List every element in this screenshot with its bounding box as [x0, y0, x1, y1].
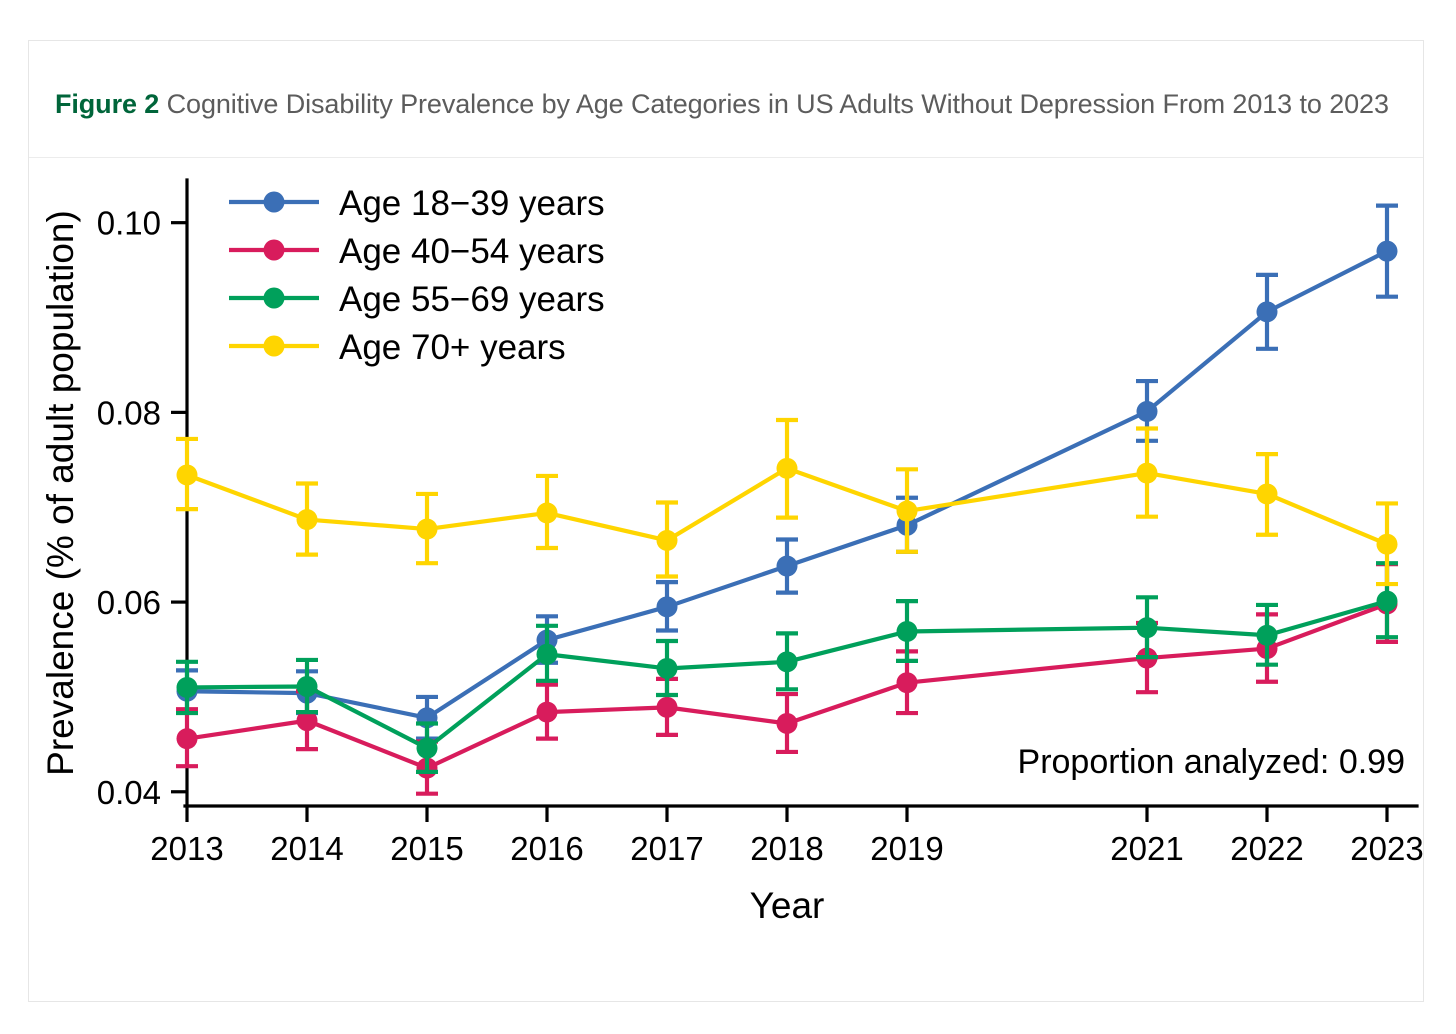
data-point[interactable] — [1377, 240, 1398, 261]
x-axis-title: Year — [750, 885, 825, 926]
proportion-analyzed-annotation: Proportion analyzed: 0.99 — [1018, 743, 1405, 781]
figure-number-label: Figure 2 — [55, 89, 159, 119]
data-point[interactable] — [1257, 483, 1278, 504]
y-tick-label: 0.08 — [97, 394, 161, 431]
data-point[interactable] — [897, 500, 918, 521]
data-point[interactable] — [1137, 617, 1158, 638]
data-point[interactable] — [657, 658, 678, 679]
data-point[interactable] — [177, 464, 198, 485]
x-tick-label: 2016 — [510, 830, 583, 867]
x-tick-label: 2023 — [1350, 830, 1423, 867]
data-point[interactable] — [1377, 590, 1398, 611]
legend-swatch-marker — [264, 335, 285, 356]
data-point[interactable] — [417, 737, 438, 758]
x-tick-label: 2021 — [1110, 830, 1183, 867]
data-point[interactable] — [897, 621, 918, 642]
plot-area: 0.040.060.080.10201320142015201620172018… — [29, 158, 1423, 926]
x-tick-label: 2015 — [390, 830, 463, 867]
figure-title-text: Cognitive Disability Prevalence by Age C… — [167, 89, 1389, 119]
legend-label: Age 55−69 years — [339, 280, 605, 319]
data-point[interactable] — [657, 530, 678, 551]
data-point[interactable] — [297, 676, 318, 697]
data-point[interactable] — [777, 458, 798, 479]
x-tick-label: 2013 — [150, 830, 223, 867]
data-point[interactable] — [537, 643, 558, 664]
data-point[interactable] — [777, 713, 798, 734]
data-point[interactable] — [1377, 533, 1398, 554]
data-point[interactable] — [1137, 401, 1158, 422]
legend-label: Age 70+ years — [339, 328, 566, 367]
legend-swatch-marker — [264, 239, 285, 260]
x-tick-label: 2018 — [750, 830, 823, 867]
x-tick-label: 2017 — [630, 830, 703, 867]
data-point[interactable] — [1137, 462, 1158, 483]
x-tick-label: 2019 — [870, 830, 943, 867]
legend-label: Age 40−54 years — [339, 232, 605, 271]
line-chart: 0.040.060.080.10201320142015201620172018… — [29, 158, 1423, 926]
figure-card: Figure 2 Cognitive Disability Prevalence… — [28, 40, 1424, 1002]
data-point[interactable] — [297, 509, 318, 530]
data-point[interactable] — [777, 651, 798, 672]
data-point[interactable] — [657, 697, 678, 718]
data-point[interactable] — [897, 672, 918, 693]
chart-legend: Age 18−39 yearsAge 40−54 yearsAge 55−69 … — [229, 184, 605, 367]
data-point[interactable] — [1257, 301, 1278, 322]
figure-header: Figure 2 Cognitive Disability Prevalence… — [29, 41, 1423, 158]
y-tick-label: 0.04 — [97, 774, 161, 811]
y-tick-label: 0.06 — [97, 584, 161, 621]
legend-swatch-marker — [264, 287, 285, 308]
data-point[interactable] — [777, 555, 798, 576]
figure-screenshot: Figure 2 Cognitive Disability Prevalence… — [0, 0, 1456, 1034]
figure-caption: Figure 2 Cognitive Disability Prevalence… — [55, 83, 1393, 127]
data-point[interactable] — [537, 701, 558, 722]
chart-annotation: Proportion analyzed: 0.99 — [1018, 743, 1405, 781]
axis-group: 0.040.060.080.10201320142015201620172018… — [40, 180, 1423, 926]
legend-label: Age 18−39 years — [339, 184, 605, 223]
data-point[interactable] — [177, 728, 198, 749]
data-point[interactable] — [417, 518, 438, 539]
data-point[interactable] — [657, 596, 678, 617]
y-axis-title: Prevalence (% of adult population) — [40, 210, 81, 776]
data-point[interactable] — [177, 677, 198, 698]
legend-swatch-marker — [264, 191, 285, 212]
x-tick-label: 2022 — [1230, 830, 1303, 867]
data-point[interactable] — [1257, 625, 1278, 646]
x-tick-label: 2014 — [270, 830, 343, 867]
y-tick-label: 0.10 — [97, 204, 161, 241]
data-point[interactable] — [537, 502, 558, 523]
